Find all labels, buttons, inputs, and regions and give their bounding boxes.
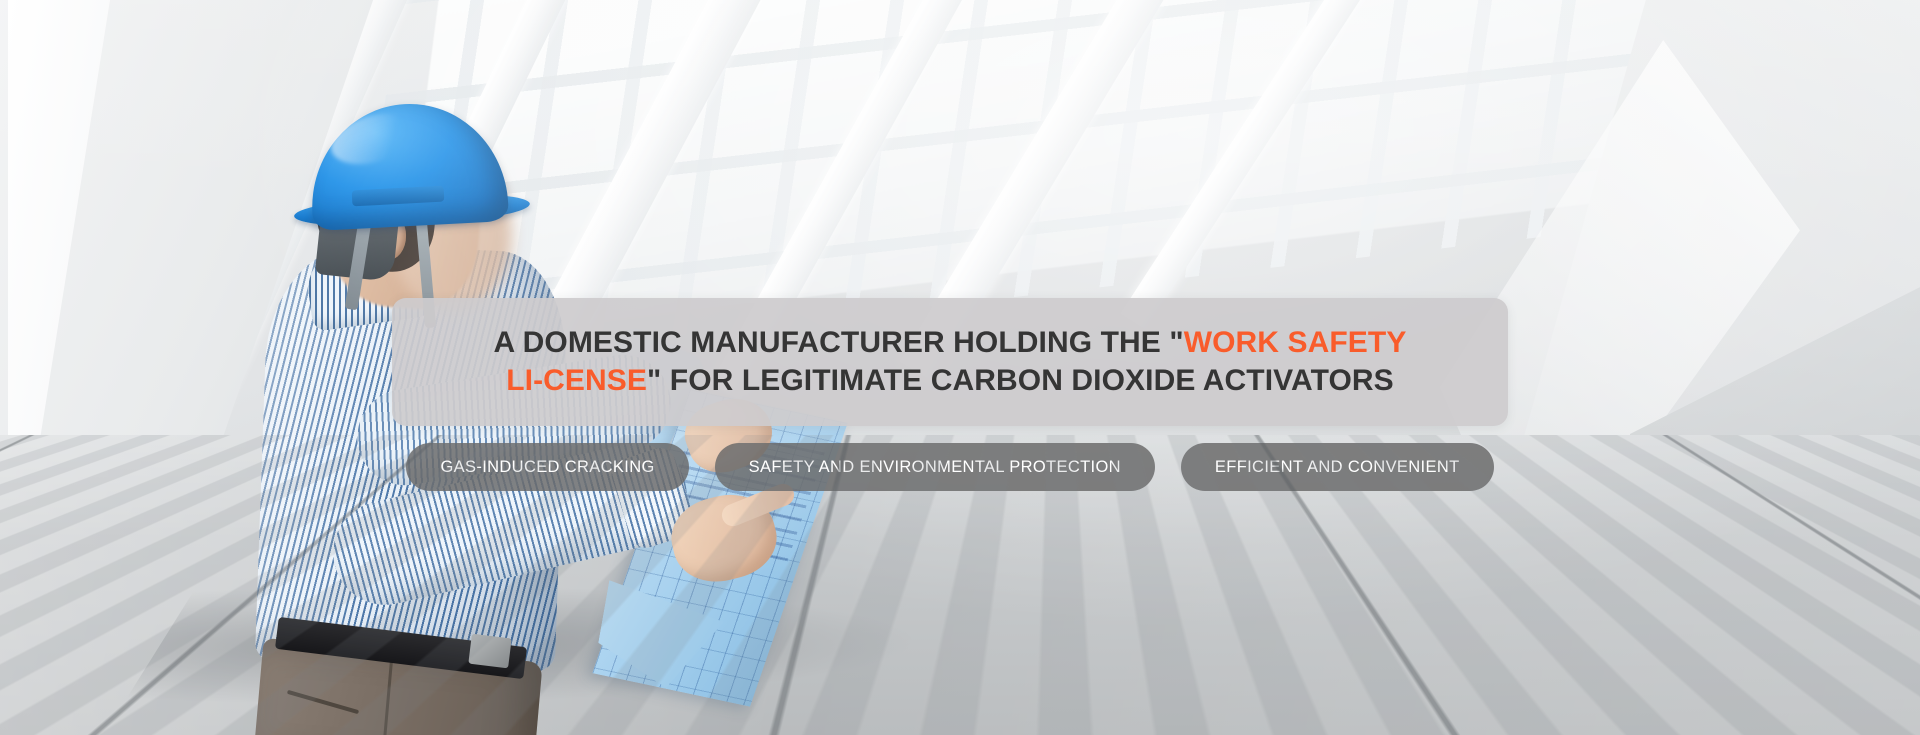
feature-tag-gas-induced-cracking[interactable]: GAS-INDUCED CRACKING bbox=[406, 443, 688, 491]
belt-buckle bbox=[468, 634, 511, 669]
headline-part-2: " FOR LEGITIMATE CARBON DIOXIDE ACTIVATO… bbox=[647, 364, 1394, 397]
feature-tag-efficient-and-convenient[interactable]: EFFICIENT AND CONVENIENT bbox=[1181, 443, 1494, 491]
headline-panel: A DOMESTIC MANUFACTURER HOLDING THE "WOR… bbox=[392, 298, 1508, 426]
headline-part-1: A DOMESTIC MANUFACTURER HOLDING THE " bbox=[494, 326, 1184, 359]
hero-banner: A DOMESTIC MANUFACTURER HOLDING THE "WOR… bbox=[0, 0, 1920, 735]
headline-accent-2: CENSE bbox=[543, 364, 647, 397]
feature-tag-row: GAS-INDUCED CRACKING SAFETY AND ENVIRONM… bbox=[392, 442, 1508, 492]
feature-tag-safety-and-environmental-protection[interactable]: SAFETY AND ENVIRONMENTAL PROTECTION bbox=[715, 443, 1155, 491]
page-title: A DOMESTIC MANUFACTURER HOLDING THE "WOR… bbox=[480, 324, 1420, 401]
